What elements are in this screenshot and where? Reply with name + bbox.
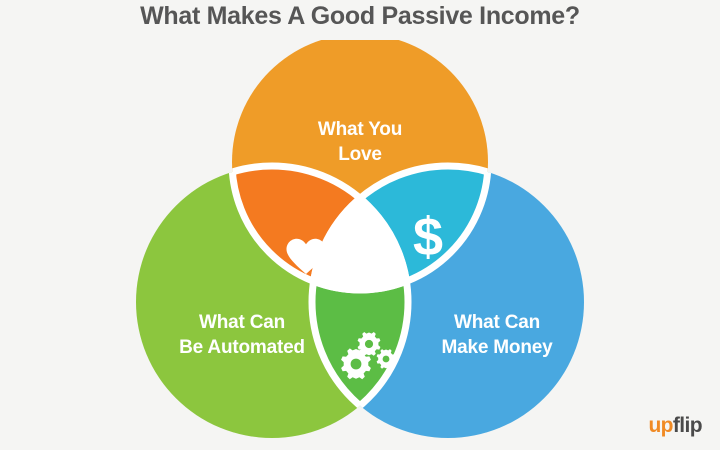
label-automated-line1: What Can <box>199 312 285 333</box>
page-title: What Makes A Good Passive Income? <box>0 2 720 31</box>
label-automated-line2: Be Automated <box>179 337 305 358</box>
svg-text:$: $ <box>413 207 443 267</box>
upflip-logo[interactable]: upflip <box>648 414 702 438</box>
label-money-line2: Make Money <box>442 337 554 358</box>
dollar-sign-icon: $ <box>413 207 443 267</box>
label-love-line1: What You <box>318 119 402 140</box>
label-love-line2: Love <box>338 144 382 165</box>
venn-diagram: What You Love What Can Be Automated What… <box>0 40 720 440</box>
logo-text-up: up <box>648 414 672 437</box>
infographic-canvas: What Makes A Good Passive Income? <box>0 0 720 450</box>
label-money-line1: What Can <box>454 312 540 333</box>
logo-text-flip: flip <box>673 414 702 437</box>
